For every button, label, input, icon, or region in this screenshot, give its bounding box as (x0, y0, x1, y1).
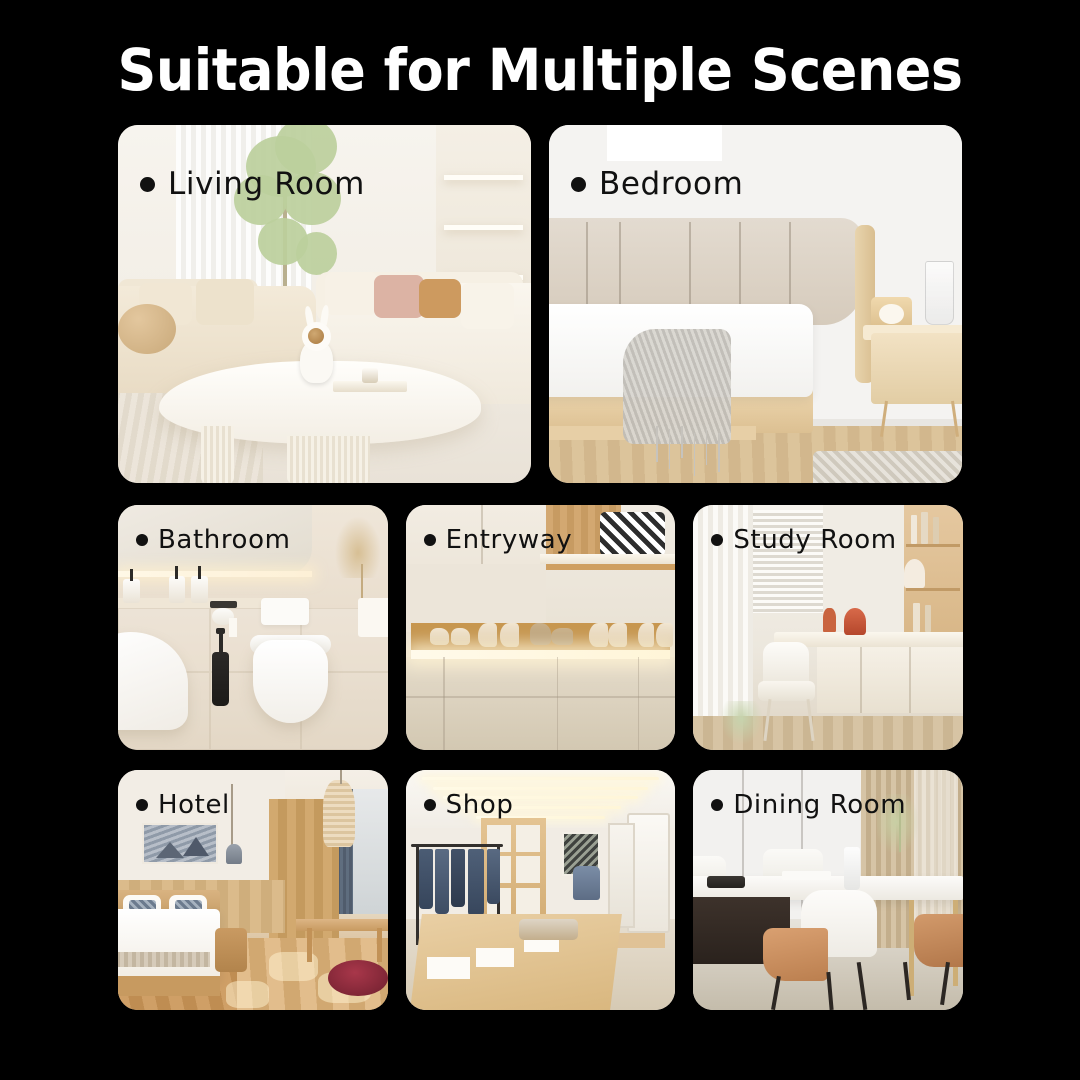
scene-card-dining-room[interactable]: Dining Room (693, 770, 963, 1010)
scene-card-shop[interactable]: Shop (406, 770, 676, 1010)
page-title: Suitable for Multiple Scenes (38, 36, 1042, 104)
scene-row-2: Bathroom (118, 505, 963, 750)
dining-room-illustration (693, 770, 963, 1010)
scene-row-1: Living Room (118, 125, 963, 483)
study-room-illustration (693, 505, 963, 750)
living-room-illustration (118, 125, 531, 483)
bedroom-illustration (549, 125, 962, 483)
scene-grid: Living Room (118, 125, 963, 1008)
hotel-illustration (118, 770, 388, 1010)
scene-card-bedroom[interactable]: Bedroom (549, 125, 962, 483)
scene-card-living-room[interactable]: Living Room (118, 125, 531, 483)
scene-card-hotel[interactable]: Hotel (118, 770, 388, 1010)
entryway-illustration (406, 505, 676, 750)
bathroom-illustration (118, 505, 388, 750)
shop-illustration (406, 770, 676, 1010)
promo-page: Suitable for Multiple Scenes (0, 0, 1080, 1080)
scene-card-study-room[interactable]: Study Room (693, 505, 963, 750)
scene-card-bathroom[interactable]: Bathroom (118, 505, 388, 750)
scene-row-3: Hotel (118, 770, 963, 1010)
scene-card-entryway[interactable]: Entryway (406, 505, 676, 750)
